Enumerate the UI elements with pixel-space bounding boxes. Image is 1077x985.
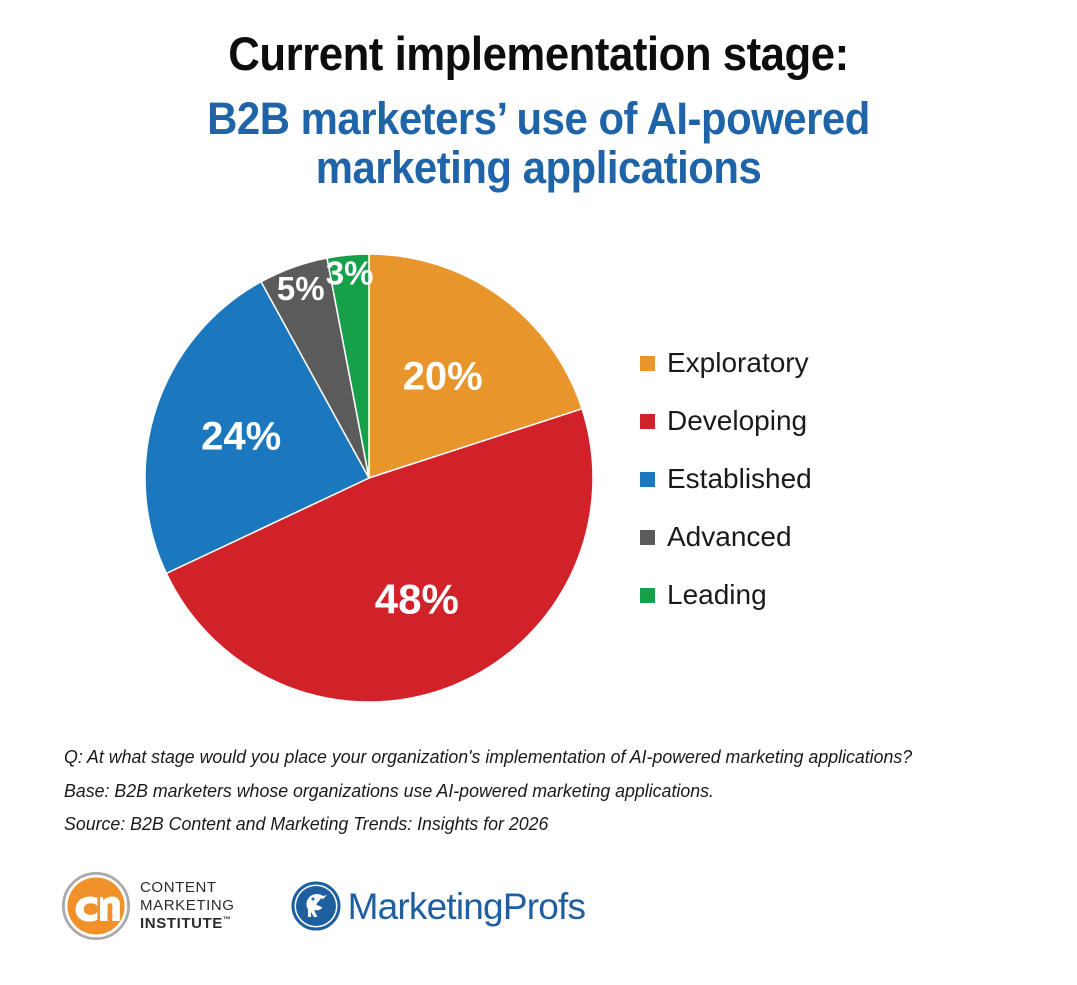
legend-item-leading[interactable]: Leading (640, 566, 940, 624)
title-line-2: B2B marketers’ use of AI-powered (38, 94, 1040, 144)
marketingprofs-logo: MarketingProfs (291, 870, 586, 942)
legend-swatch-icon (640, 472, 655, 487)
legend-item-developing[interactable]: Developing (640, 392, 940, 450)
legend-swatch-icon (640, 356, 655, 371)
legend-swatch-icon (640, 588, 655, 603)
legend-swatch-icon (640, 414, 655, 429)
cmi-wordmark: CONTENT MARKETING INSTITUTE™ (140, 879, 235, 932)
cmi-word-marketing: MARKETING (140, 897, 235, 915)
page-title: Current implementation stage: B2B market… (0, 28, 1077, 193)
chart-legend: Exploratory Developing Established Advan… (640, 334, 940, 624)
chart-container: 20%48%24%5%3% Exploratory Developing Est… (0, 238, 1077, 728)
footnote-base: Base: B2B marketers whose organizations … (64, 782, 1024, 801)
legend-item-established[interactable]: Established (640, 450, 940, 508)
legend-swatch-icon (640, 530, 655, 545)
logo-bar: CONTENT MARKETING INSTITUTE™ MarketingPr… (62, 868, 585, 944)
legend-item-advanced[interactable]: Advanced (640, 508, 940, 566)
content-marketing-institute-logo: CONTENT MARKETING INSTITUTE™ (62, 870, 235, 942)
pie-slice-label-advanced: 5% (277, 270, 325, 307)
pie-chart: 20%48%24%5%3% (144, 253, 594, 703)
pie-slice-label-established: 24% (201, 414, 281, 458)
trademark-icon: ™ (223, 915, 232, 924)
legend-label: Advanced (667, 523, 792, 551)
pie-slice-label-leading: 3% (326, 254, 374, 291)
legend-label: Established (667, 465, 812, 493)
title-line-3: marketing applications (38, 143, 1040, 193)
legend-label: Developing (667, 407, 807, 435)
legend-label: Leading (667, 581, 767, 609)
marketingprofs-wordmark: MarketingProfs (348, 888, 586, 925)
legend-item-exploratory[interactable]: Exploratory (640, 334, 940, 392)
cmi-institute-text: INSTITUTE (140, 915, 223, 932)
title-line-1: Current implementation stage: (38, 28, 1040, 80)
footnote-source: Source: B2B Content and Marketing Trends… (64, 815, 1024, 834)
pie-chart-svg: 20%48%24%5%3% (144, 253, 594, 703)
marketingprofs-bird-icon (291, 881, 341, 931)
legend-label: Exploratory (667, 349, 809, 377)
cmi-word-content: CONTENT (140, 879, 235, 897)
footnotes: Q: At what stage would you place your or… (64, 748, 1064, 849)
cmi-circle-icon (62, 872, 130, 940)
pie-slice-label-exploratory: 20% (403, 355, 483, 399)
pie-slice-label-developing: 48% (375, 575, 459, 622)
footnote-question: Q: At what stage would you place your or… (64, 748, 1024, 767)
cmi-word-institute: INSTITUTE™ (140, 915, 235, 933)
